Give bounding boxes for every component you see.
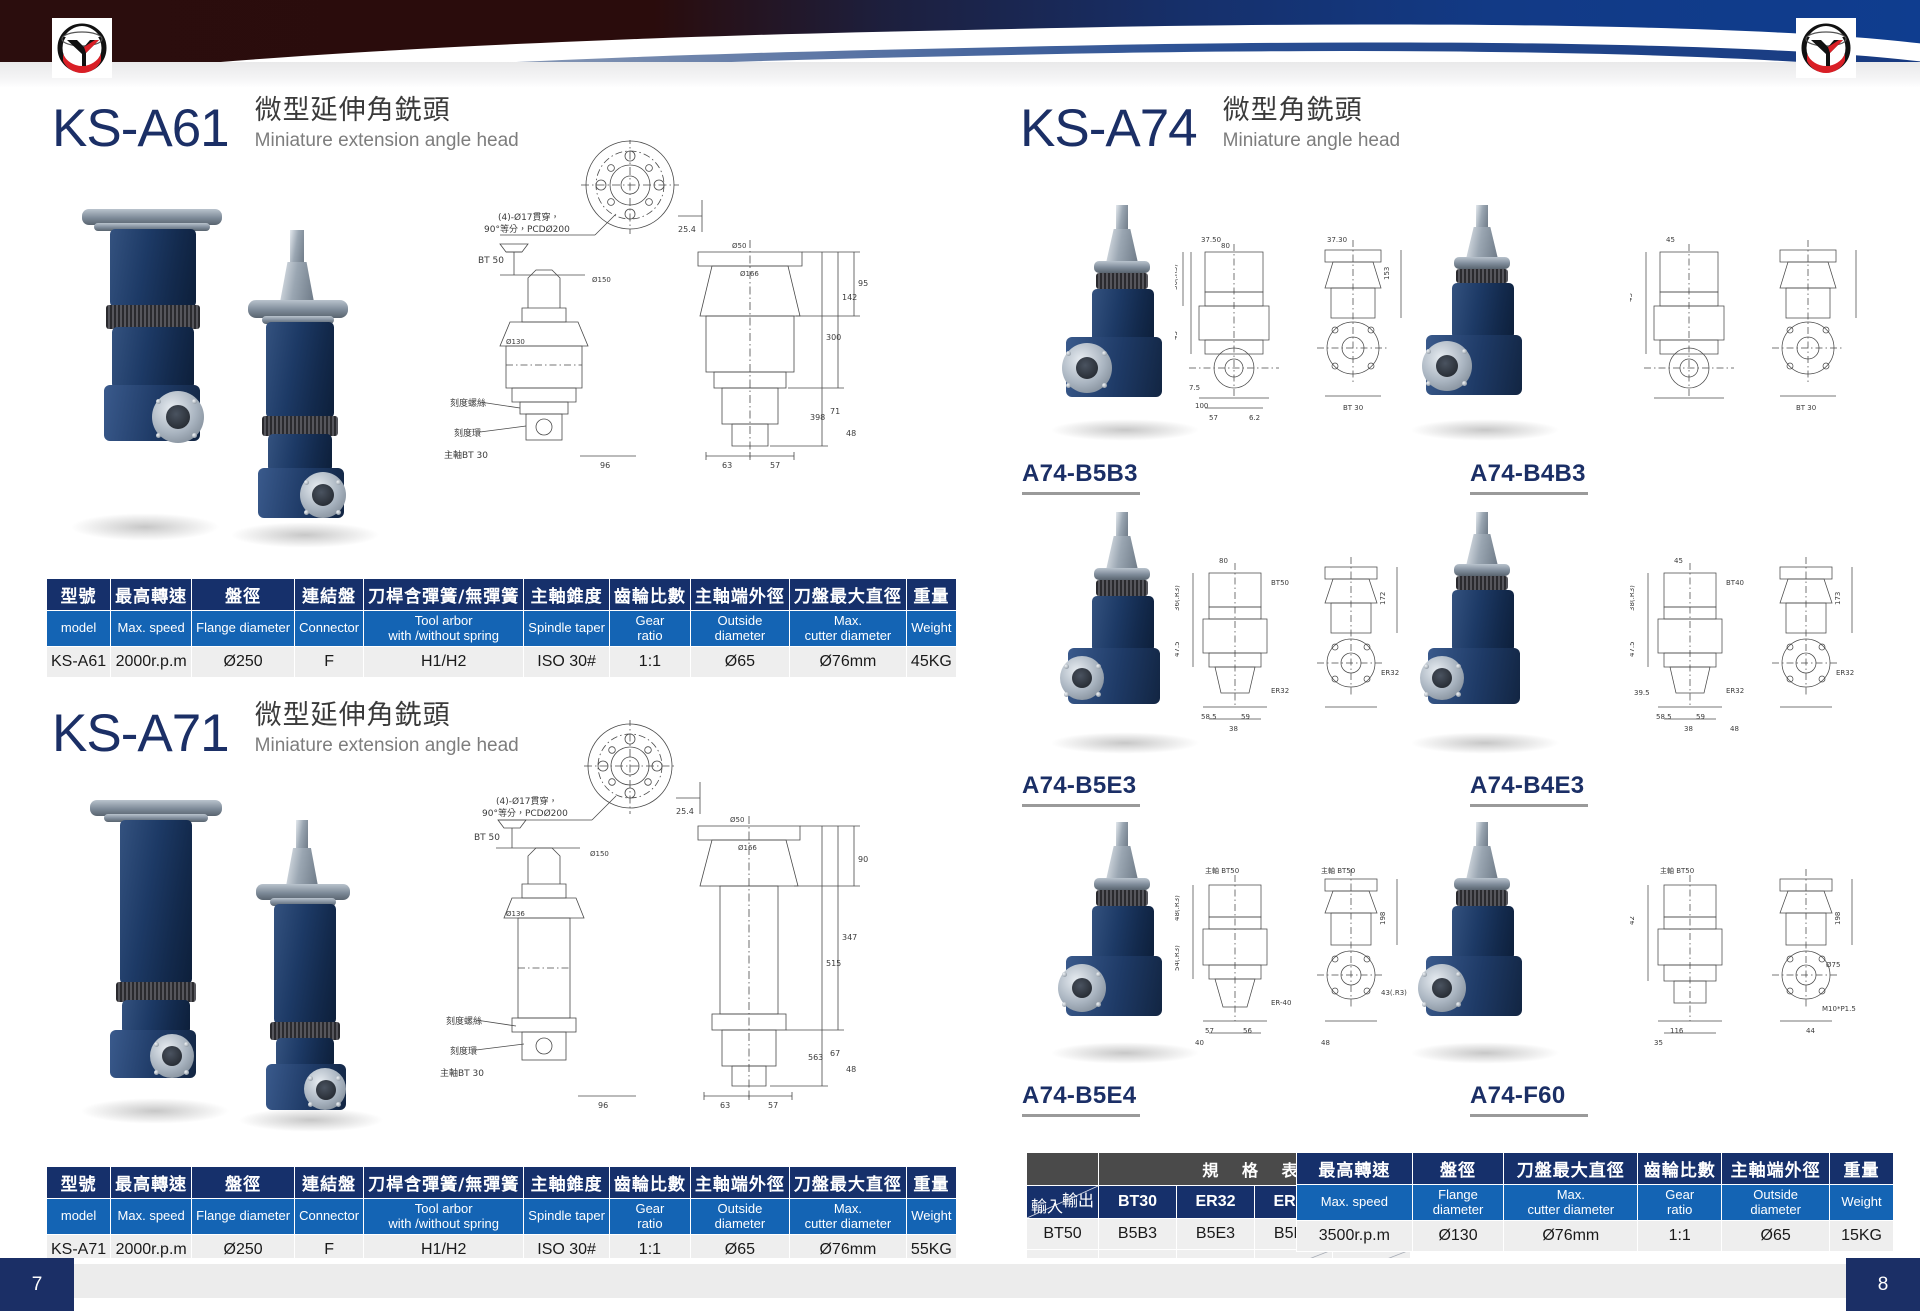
svg-text:Ø50: Ø50 bbox=[730, 816, 744, 824]
td-flange: Ø130 bbox=[1412, 1221, 1504, 1252]
svg-text:515: 515 bbox=[826, 959, 841, 968]
technical-drawing-a74-b5b3: 37.50 80 36(.R3) 45 100 57 6.2 7.5 153 3… bbox=[1175, 230, 1435, 445]
svg-text:BT50: BT50 bbox=[1271, 579, 1289, 587]
spec-table-ks-a74: 最高轉速 盤徑 刀盤最大直徑 齒輪比數 主軸端外徑 重量 Max. speed … bbox=[1296, 1152, 1894, 1252]
svg-text:25.4: 25.4 bbox=[678, 225, 696, 234]
model-label-a74-f60: A74-F60 bbox=[1470, 1082, 1588, 1117]
matrix-corner-input: 輸入 bbox=[1031, 1193, 1063, 1217]
svg-text:40: 40 bbox=[1195, 1039, 1204, 1047]
model-label-text: A74-F60 bbox=[1470, 1082, 1588, 1114]
td-maxspeed: 3500r.p.m bbox=[1297, 1221, 1413, 1252]
matrix-row-header: BT50 bbox=[1027, 1219, 1099, 1250]
footer-grey-bar bbox=[74, 1264, 1846, 1298]
svg-text:173: 173 bbox=[1834, 592, 1842, 605]
th-maxspeed-en: Max. speed bbox=[111, 611, 192, 647]
matrix-col-bt30: BT30 bbox=[1099, 1186, 1177, 1219]
svg-text:35: 35 bbox=[1654, 1039, 1663, 1047]
svg-text:37.30: 37.30 bbox=[1327, 236, 1347, 244]
svg-text:80: 80 bbox=[1221, 242, 1230, 250]
th-maxspeed-cn: 最高轉速 bbox=[1297, 1153, 1413, 1185]
td-outsidedia: Ø65 bbox=[1722, 1221, 1830, 1252]
company-logo-icon bbox=[1799, 21, 1853, 75]
th-weight-cn: 重量 bbox=[1830, 1153, 1894, 1185]
td-weight: 45KG bbox=[906, 647, 956, 678]
svg-text:38: 38 bbox=[1229, 725, 1238, 733]
th-outsidedia-cn: 主軸端外徑 bbox=[1722, 1153, 1830, 1185]
svg-text:BT 50: BT 50 bbox=[474, 833, 500, 843]
th-flange-cn: 盤徑 bbox=[192, 1167, 295, 1199]
model-label-text: A74-B5E4 bbox=[1022, 1082, 1140, 1114]
svg-text:45: 45 bbox=[1666, 236, 1675, 244]
th-weight-en: Weight bbox=[1830, 1185, 1894, 1221]
model-label-rule bbox=[1022, 1114, 1140, 1117]
product-photo-ks-a71-right bbox=[228, 820, 408, 1140]
th-flange-en: Flange diameter bbox=[192, 611, 295, 647]
svg-text:主軸 BT50: 主軸 BT50 bbox=[1321, 866, 1355, 875]
svg-text:M10*P1.5: M10*P1.5 bbox=[1822, 1005, 1856, 1013]
table-header-row-en: model Max. speed Flange diameter Connect… bbox=[47, 1199, 957, 1235]
svg-text:57: 57 bbox=[1209, 414, 1218, 422]
svg-text:71: 71 bbox=[830, 407, 840, 416]
svg-text:398: 398 bbox=[810, 413, 825, 422]
svg-text:67: 67 bbox=[830, 1049, 840, 1058]
svg-text:48: 48 bbox=[846, 429, 856, 438]
svg-text:57: 57 bbox=[770, 461, 780, 470]
th-taper-cn: 主軸錐度 bbox=[524, 1167, 610, 1199]
matrix-cell: B5B3 bbox=[1099, 1219, 1177, 1250]
svg-text:45: 45 bbox=[1175, 331, 1179, 340]
svg-text:45: 45 bbox=[1674, 557, 1683, 565]
th-flange-en: Flange diameter bbox=[192, 1199, 295, 1235]
page-banner bbox=[0, 0, 1920, 88]
svg-text:Ø130: Ø130 bbox=[506, 338, 525, 346]
spec-table-ks-a71: 型號 最高轉速 盤徑 連結盤 刀桿含彈簧/無彈簧 主軸錐度 齒輪比數 主軸端外徑… bbox=[46, 1166, 957, 1266]
th-toolarbor-en: Tool arbor with /without spring bbox=[364, 1199, 524, 1235]
svg-text:BT40: BT40 bbox=[1726, 579, 1744, 587]
th-maxspeed-en: Max. speed bbox=[1297, 1185, 1413, 1221]
svg-text:刻度螺絲: 刻度螺絲 bbox=[450, 397, 486, 409]
th-gearratio-cn: 齒輪比數 bbox=[1638, 1153, 1722, 1185]
th-maxspeed-cn: 最高轉速 bbox=[111, 1167, 192, 1199]
product-name-en: Miniature angle head bbox=[1223, 129, 1400, 153]
th-model-cn: 型號 bbox=[47, 1167, 111, 1199]
th-cutterdia-en: Max. cutter diameter bbox=[789, 611, 906, 647]
th-model-cn: 型號 bbox=[47, 579, 111, 611]
svg-text:63: 63 bbox=[722, 461, 732, 470]
th-cutterdia-cn: 刀盤最大直徑 bbox=[789, 579, 906, 611]
table-header-row-en: Max. speed Flange diameter Max. cutter d… bbox=[1297, 1185, 1894, 1221]
page-number-left: 7 bbox=[0, 1258, 74, 1311]
product-code: KS-A74 bbox=[1020, 103, 1197, 155]
svg-text:43: 43 bbox=[1630, 293, 1634, 302]
svg-text:96: 96 bbox=[598, 1101, 608, 1110]
technical-drawing-a74-b4e3: 45 BT40 38(.R3) 47.5 58.5 59 ER32 38 173… bbox=[1630, 545, 1890, 760]
technical-drawing-a74-b4b3: 45 43 BT 30 bbox=[1630, 230, 1890, 445]
svg-text:153: 153 bbox=[1383, 267, 1391, 280]
svg-text:Ø136: Ø136 bbox=[506, 910, 525, 918]
svg-text:ER32: ER32 bbox=[1836, 669, 1854, 677]
product-title-ks-a74: KS-A74 微型角銑頭 Miniature angle head bbox=[1020, 95, 1400, 155]
model-label-rule bbox=[1022, 492, 1140, 495]
svg-text:300: 300 bbox=[826, 333, 841, 342]
technical-drawing-ks-a71: (4)-Ø17貫穿， 90°等分，PCDØ200 25.4 BT 50 Ø150… bbox=[440, 720, 910, 1130]
svg-text:主軸BT 30: 主軸BT 30 bbox=[444, 449, 488, 461]
th-outsidedia-en: Outside diameter bbox=[690, 611, 789, 647]
svg-text:57: 57 bbox=[768, 1101, 778, 1110]
th-outsidedia-en: Outside diameter bbox=[690, 1199, 789, 1235]
svg-text:ER32: ER32 bbox=[1381, 669, 1399, 677]
svg-text:90: 90 bbox=[858, 855, 868, 864]
svg-text:Ø150: Ø150 bbox=[592, 276, 611, 284]
svg-text:ER32: ER32 bbox=[1726, 687, 1744, 695]
svg-text:142: 142 bbox=[842, 293, 857, 302]
svg-text:347: 347 bbox=[842, 933, 857, 942]
banner-grey-strip bbox=[0, 62, 1920, 88]
table-header-row-cn: 型號 最高轉速 盤徑 連結盤 刀桿含彈簧/無彈簧 主軸錐度 齒輪比數 主軸端外徑… bbox=[47, 579, 957, 611]
th-taper-cn: 主軸錐度 bbox=[524, 579, 610, 611]
spec-table-ks-a61: 型號 最高轉速 盤徑 連結盤 刀桿含彈簧/無彈簧 主軸錐度 齒輪比數 主軸端外徑… bbox=[46, 578, 957, 678]
svg-text:59: 59 bbox=[1696, 713, 1705, 721]
technical-drawing-a74-b5e4: 主軸 BT50 48(.R3) 54(.R3) 57 56 40 ER-40 主… bbox=[1175, 855, 1435, 1070]
td-weight: 15KG bbox=[1830, 1221, 1894, 1252]
drawing-note-hole-line2: 90°等分，PCDØ200 bbox=[482, 807, 568, 819]
svg-text:44: 44 bbox=[1806, 1027, 1815, 1035]
th-flange-cn: 盤徑 bbox=[1412, 1153, 1504, 1185]
svg-text:6.2: 6.2 bbox=[1249, 414, 1260, 422]
model-label-rule bbox=[1470, 804, 1588, 807]
product-photo-a74-b4e3 bbox=[1400, 512, 1580, 757]
technical-drawing-ks-a61: (4)-Ø17貫穿， 90°等分，PCDØ200 25.4 BT 50 Ø150… bbox=[440, 140, 910, 540]
svg-text:主軸BT 30: 主軸BT 30 bbox=[440, 1067, 484, 1079]
svg-text:BT 50: BT 50 bbox=[478, 256, 504, 266]
th-weight-cn: 重量 bbox=[906, 1167, 956, 1199]
svg-text:198: 198 bbox=[1834, 912, 1842, 925]
svg-text:48: 48 bbox=[1321, 1039, 1330, 1047]
model-label-a74-b5b3: A74-B5B3 bbox=[1022, 460, 1140, 495]
model-label-text: A74-B5B3 bbox=[1022, 460, 1140, 492]
product-photo-ks-a71-left bbox=[72, 790, 252, 1130]
th-flange-en: Flange diameter bbox=[1412, 1185, 1504, 1221]
svg-text:主軸 BT50: 主軸 BT50 bbox=[1205, 866, 1239, 875]
svg-text:刻度環: 刻度環 bbox=[454, 427, 481, 439]
drawing-note-hole-line1: (4)-Ø17貫穿， bbox=[496, 795, 558, 807]
product-code: KS-A61 bbox=[52, 103, 229, 155]
th-taper-en: Spindle taper bbox=[524, 1199, 610, 1235]
td-maxspeed: 2000r.p.m bbox=[111, 647, 192, 678]
drawing-note-hole-line1: (4)-Ø17貫穿， bbox=[498, 211, 560, 223]
svg-text:57: 57 bbox=[1205, 1027, 1214, 1035]
th-cutterdia-cn: 刀盤最大直徑 bbox=[1504, 1153, 1638, 1185]
svg-text:37.50: 37.50 bbox=[1201, 236, 1221, 244]
svg-text:38: 38 bbox=[1684, 725, 1693, 733]
svg-text:116: 116 bbox=[1670, 1027, 1684, 1035]
svg-text:100: 100 bbox=[1195, 402, 1208, 410]
svg-text:96: 96 bbox=[600, 461, 610, 470]
svg-text:42: 42 bbox=[1630, 916, 1636, 925]
td-gearratio: 1:1 bbox=[1638, 1221, 1722, 1252]
th-maxspeed-en: Max. speed bbox=[111, 1199, 192, 1235]
td-cutterdia: Ø76mm bbox=[789, 647, 906, 678]
svg-text:48(.R3): 48(.R3) bbox=[1175, 895, 1181, 921]
th-toolarbor-en: Tool arbor with /without spring bbox=[364, 611, 524, 647]
svg-text:7.5: 7.5 bbox=[1189, 384, 1200, 392]
model-label-a74-b5e3: A74-B5E3 bbox=[1022, 772, 1140, 807]
svg-text:Ø166: Ø166 bbox=[740, 270, 759, 278]
svg-text:BT 30: BT 30 bbox=[1796, 404, 1816, 412]
th-connector-cn: 連結盤 bbox=[295, 1167, 364, 1199]
svg-text:58.5: 58.5 bbox=[1656, 713, 1672, 721]
td-model: KS-A61 bbox=[47, 647, 111, 678]
svg-text:38(.R3): 38(.R3) bbox=[1630, 585, 1636, 611]
th-connector-cn: 連結盤 bbox=[295, 579, 364, 611]
th-flange-cn: 盤徑 bbox=[192, 579, 295, 611]
th-gearratio-en: Gear ratio bbox=[609, 611, 690, 647]
td-connector: F bbox=[295, 647, 364, 678]
svg-text:48: 48 bbox=[846, 1065, 856, 1074]
matrix-corner-output: 輸出 bbox=[1062, 1187, 1094, 1211]
technical-drawing-a74-b5e3: 80 BT50 36(.R3) 47.5 58.5 59 ER32 38 172… bbox=[1175, 545, 1435, 760]
company-logo-icon bbox=[55, 21, 109, 75]
product-photo-ks-a61-right bbox=[218, 230, 398, 550]
drawing-note-hole-line2: 90°等分，PCDØ200 bbox=[484, 223, 570, 235]
product-code: KS-A71 bbox=[52, 708, 229, 760]
matrix-corner-cell: 輸出 輸入 bbox=[1027, 1186, 1099, 1219]
td-outsidedia: Ø65 bbox=[690, 647, 789, 678]
svg-text:58.5: 58.5 bbox=[1201, 713, 1217, 721]
model-label-text: A74-B4B3 bbox=[1470, 460, 1588, 492]
table-row: KS-A61 2000r.p.m Ø250 F H1/H2 ISO 30# 1:… bbox=[47, 647, 957, 678]
model-label-text: A74-B4E3 bbox=[1470, 772, 1588, 804]
model-label-a74-b5e4: A74-B5E4 bbox=[1022, 1082, 1140, 1117]
svg-text:Ø75: Ø75 bbox=[1826, 961, 1840, 969]
th-taper-en: Spindle taper bbox=[524, 611, 610, 647]
th-outsidedia-cn: 主軸端外徑 bbox=[690, 1167, 789, 1199]
th-weight-en: Weight bbox=[906, 1199, 956, 1235]
model-label-text: A74-B5E3 bbox=[1022, 772, 1140, 804]
svg-text:BT 30: BT 30 bbox=[1343, 404, 1363, 412]
product-name-cn: 微型延伸角銑頭 bbox=[255, 95, 519, 127]
th-weight-en: Weight bbox=[906, 611, 956, 647]
th-connector-en: Connector bbox=[295, 1199, 364, 1235]
matrix-cell: B5E3 bbox=[1177, 1219, 1255, 1250]
th-toolarbor-cn: 刀桿含彈簧/無彈簧 bbox=[364, 1167, 524, 1199]
matrix-title-spacer bbox=[1027, 1153, 1099, 1186]
model-label-a74-b4e3: A74-B4E3 bbox=[1470, 772, 1588, 807]
td-flange: Ø250 bbox=[192, 647, 295, 678]
model-label-rule bbox=[1470, 492, 1588, 495]
svg-text:ER-40: ER-40 bbox=[1271, 999, 1291, 1007]
th-gearratio-en: Gear ratio bbox=[1638, 1185, 1722, 1221]
table-header-row-cn: 最高轉速 盤徑 刀盤最大直徑 齒輪比數 主軸端外徑 重量 bbox=[1297, 1153, 1894, 1185]
th-cutterdia-en: Max. cutter diameter bbox=[789, 1199, 906, 1235]
page-gutter bbox=[959, 88, 961, 1268]
td-gearratio: 1:1 bbox=[609, 647, 690, 678]
product-name-cn: 微型角銑頭 bbox=[1223, 95, 1400, 127]
svg-text:47.5: 47.5 bbox=[1630, 641, 1636, 657]
svg-text:54(.R3): 54(.R3) bbox=[1175, 945, 1181, 971]
th-model-en: model bbox=[47, 1199, 111, 1235]
th-model-en: model bbox=[47, 611, 111, 647]
technical-drawing-a74-f60: 主軸 BT50 42 116 35 Ø75 44 M10*P1.5 198 bbox=[1630, 855, 1890, 1070]
product-photo-a74-f60 bbox=[1400, 822, 1580, 1067]
svg-text:80: 80 bbox=[1219, 557, 1228, 565]
table-header-row-cn: 型號 最高轉速 盤徑 連結盤 刀桿含彈簧/無彈簧 主軸錐度 齒輪比數 主軸端外徑… bbox=[47, 1167, 957, 1199]
svg-text:563: 563 bbox=[808, 1053, 823, 1062]
svg-text:36(.R3): 36(.R3) bbox=[1175, 585, 1181, 611]
svg-text:56: 56 bbox=[1243, 1027, 1252, 1035]
svg-text:刻度環: 刻度環 bbox=[450, 1045, 477, 1057]
svg-text:95: 95 bbox=[858, 279, 868, 288]
model-label-rule bbox=[1470, 1114, 1588, 1117]
td-cutterdia: Ø76mm bbox=[1504, 1221, 1638, 1252]
model-label-a74-b4b3: A74-B4B3 bbox=[1470, 460, 1588, 495]
svg-text:39.5: 39.5 bbox=[1634, 689, 1650, 697]
svg-text:36(.R3): 36(.R3) bbox=[1175, 264, 1179, 290]
svg-text:ER32: ER32 bbox=[1271, 687, 1289, 695]
svg-text:刻度螺絲: 刻度螺絲 bbox=[446, 1015, 482, 1027]
th-cutterdia-en: Max. cutter diameter bbox=[1504, 1185, 1638, 1221]
svg-text:48: 48 bbox=[1730, 725, 1739, 733]
svg-text:63: 63 bbox=[720, 1101, 730, 1110]
th-outsidedia-cn: 主軸端外徑 bbox=[690, 579, 789, 611]
td-taper: ISO 30# bbox=[524, 647, 610, 678]
svg-text:Ø150: Ø150 bbox=[590, 850, 609, 858]
company-logo-right bbox=[1796, 18, 1856, 78]
td-toolarbor: H1/H2 bbox=[364, 647, 524, 678]
svg-text:172: 172 bbox=[1379, 592, 1387, 605]
product-photo-ks-a61-left bbox=[60, 195, 240, 545]
th-gearratio-cn: 齒輪比數 bbox=[609, 1167, 690, 1199]
th-toolarbor-cn: 刀桿含彈簧/無彈簧 bbox=[364, 579, 524, 611]
th-connector-en: Connector bbox=[295, 611, 364, 647]
th-gearratio-en: Gear ratio bbox=[609, 1199, 690, 1235]
svg-text:47.5: 47.5 bbox=[1175, 641, 1181, 657]
svg-text:Ø166: Ø166 bbox=[738, 844, 757, 852]
product-photo-a74-b4b3 bbox=[1400, 205, 1580, 445]
th-maxspeed-cn: 最高轉速 bbox=[111, 579, 192, 611]
company-logo-left bbox=[52, 18, 112, 78]
th-weight-cn: 重量 bbox=[906, 579, 956, 611]
matrix-col-er32: ER32 bbox=[1177, 1186, 1255, 1219]
svg-text:主軸 BT50: 主軸 BT50 bbox=[1660, 866, 1694, 875]
svg-text:59: 59 bbox=[1241, 713, 1250, 721]
th-gearratio-cn: 齒輪比數 bbox=[609, 579, 690, 611]
svg-text:25.4: 25.4 bbox=[676, 807, 694, 816]
table-row: 3500r.p.m Ø130 Ø76mm 1:1 Ø65 15KG bbox=[1297, 1221, 1894, 1252]
th-outsidedia-en: Outside diameter bbox=[1722, 1185, 1830, 1221]
th-cutterdia-cn: 刀盤最大直徑 bbox=[789, 1167, 906, 1199]
svg-text:198: 198 bbox=[1379, 912, 1387, 925]
page-number-right: 8 bbox=[1846, 1258, 1920, 1311]
svg-text:Ø50: Ø50 bbox=[732, 242, 746, 250]
table-header-row-en: model Max. speed Flange diameter Connect… bbox=[47, 611, 957, 647]
model-label-rule bbox=[1022, 804, 1140, 807]
